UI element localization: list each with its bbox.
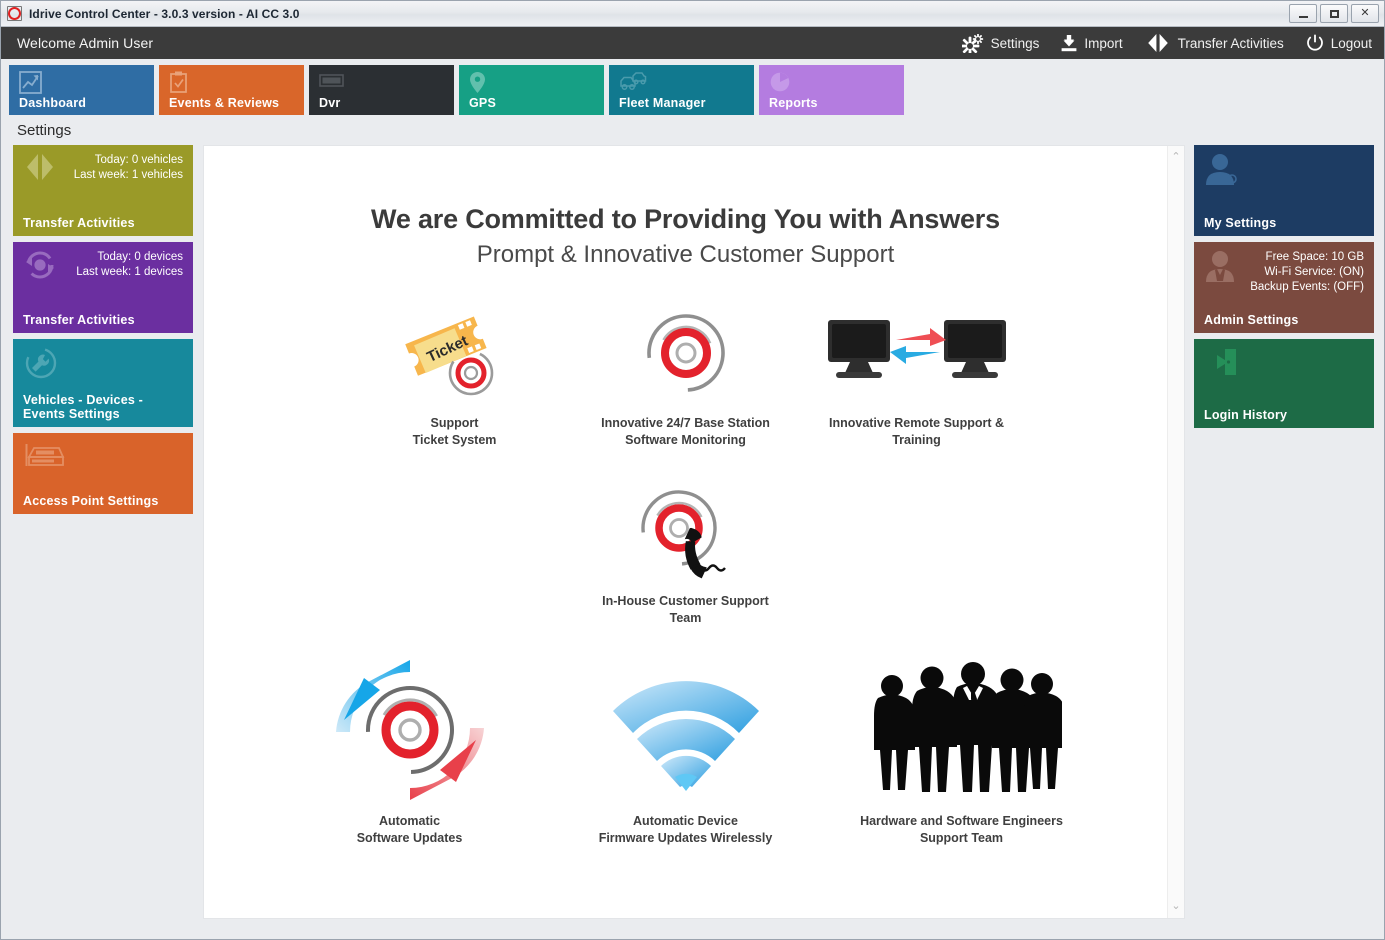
logout-button[interactable]: Logout — [1306, 34, 1372, 52]
page-title: Settings — [1, 115, 1384, 145]
gears-icon — [962, 34, 984, 53]
tile-my-settings[interactable]: My Settings — [1194, 145, 1374, 236]
tile-stat-line: Today: 0 devices — [23, 250, 183, 265]
feature-caption-line1: Hardware and Software Engineers — [860, 813, 1063, 830]
welcome-label: Welcome Admin User — [17, 35, 153, 51]
chart-line-icon — [19, 71, 42, 99]
remote-monitors-icon — [822, 299, 1012, 407]
tile-stats: Today: 0 vehicles Last week: 1 vehicles — [23, 153, 183, 183]
feature-remote-support-training: Innovative Remote Support & Training — [809, 299, 1024, 449]
main-panel: We are Committed to Providing You with A… — [203, 145, 1185, 919]
wifi-signal-icon — [601, 655, 771, 805]
scroll-up-arrow[interactable]: ⌃ — [1171, 152, 1180, 163]
left-sidebar: Today: 0 vehicles Last week: 1 vehicles … — [13, 145, 193, 919]
feature-caption-line1: Innovative 24/7 Base Station — [601, 415, 770, 432]
feature-caption-line2: Software Monitoring — [601, 432, 770, 449]
settings-label: Settings — [991, 36, 1040, 51]
tile-label: Access Point Settings — [23, 494, 159, 508]
logout-label: Logout — [1331, 36, 1372, 51]
tile-label: Transfer Activities — [23, 313, 135, 327]
nav-tab-fleet-manager-label: Fleet Manager — [619, 96, 706, 110]
tile-stat-line: Backup Events: (OFF) — [1204, 280, 1364, 295]
download-icon — [1061, 35, 1077, 52]
transfer-arrows-icon — [1145, 34, 1171, 52]
login-door-icon — [1204, 347, 1238, 382]
tile-stat-line: Today: 0 vehicles — [23, 153, 183, 168]
feature-caption-line2: Firmware Updates Wirelessly — [599, 830, 773, 847]
feature-engineers-support-team: Hardware and Software Engineers Support … — [832, 655, 1092, 847]
target-ring-icon — [7, 6, 22, 21]
tile-access-point-settings[interactable]: Access Point Settings — [13, 433, 193, 514]
window-title: Idrive Control Center - 3.0.3 version - … — [29, 7, 300, 21]
status-bar — [1, 931, 1384, 939]
tile-label: Login History — [1204, 408, 1287, 422]
wrench-icon — [23, 347, 59, 384]
feature-grid: Ticket — [204, 269, 1167, 875]
tile-transfer-activities-devices[interactable]: Today: 0 devices Last week: 1 devices Tr… — [13, 242, 193, 333]
feature-caption-line2: Team — [602, 610, 769, 627]
feature-caption: Hardware and Software Engineers Support … — [860, 813, 1063, 847]
feature-caption: Innovative 24/7 Base Station Software Mo… — [601, 415, 770, 449]
tile-vehicles-devices-events-settings[interactable]: Vehicles - Devices - Events Settings — [13, 339, 193, 427]
application-window: Idrive Control Center - 3.0.3 version - … — [0, 0, 1385, 940]
team-silhouette-icon — [862, 655, 1062, 805]
tile-label: My Settings — [1204, 216, 1276, 230]
vehicles-icon — [619, 71, 647, 96]
base-station-target-icon — [636, 299, 736, 407]
nav-tab-fleet-manager[interactable]: Fleet Manager — [609, 65, 754, 115]
user-settings-icon — [1204, 153, 1238, 190]
tile-admin-settings[interactable]: Free Space: 10 GB Wi-Fi Service: (ON) Ba… — [1194, 242, 1374, 333]
hero-section: We are Committed to Providing You with A… — [204, 146, 1167, 269]
tile-stat-line: Last week: 1 vehicles — [23, 168, 183, 183]
feature-device-firmware-updates: Automatic Device Firmware Updates Wirele… — [556, 655, 816, 847]
feature-caption-line1: Automatic Device — [599, 813, 773, 830]
nav-tab-events-reviews[interactable]: Events & Reviews — [159, 65, 304, 115]
feature-caption-line1: Support — [413, 415, 497, 432]
feature-support-ticket-system: Ticket — [347, 299, 562, 449]
main-navigation: Dashboard Events & Reviews Dvr — [1, 59, 1384, 115]
nav-tab-gps-label: GPS — [469, 96, 496, 110]
feature-caption-line2: Ticket System — [413, 432, 497, 449]
settings-button[interactable]: Settings — [962, 34, 1040, 53]
feature-caption: Automatic Software Updates — [357, 813, 463, 847]
tile-login-history[interactable]: Login History — [1194, 339, 1374, 428]
feature-caption-line2: Training — [829, 432, 1004, 449]
feature-caption-line1: Innovative Remote Support & — [829, 415, 1004, 432]
feature-caption-line2: Software Updates — [357, 830, 463, 847]
import-button[interactable]: Import — [1061, 35, 1122, 52]
tile-stat-line: Free Space: 10 GB — [1204, 250, 1364, 265]
scroll-down-arrow[interactable]: ⌄ — [1171, 901, 1180, 912]
tile-stats: Free Space: 10 GB Wi-Fi Service: (ON) Ba… — [1204, 250, 1364, 295]
tile-stat-line: Wi-Fi Service: (ON) — [1204, 265, 1364, 280]
close-button[interactable]: ✕ — [1351, 4, 1379, 23]
nav-tab-gps[interactable]: GPS — [459, 65, 604, 115]
feature-automatic-software-updates: Automatic Software Updates — [280, 655, 540, 847]
power-icon — [1306, 34, 1324, 52]
top-actions: Settings Import — [962, 34, 1372, 53]
feature-in-house-support-team: In-House Customer Support Team — [578, 477, 793, 627]
target-phone-icon — [631, 477, 741, 585]
main-scroll-region: We are Committed to Providing You with A… — [204, 146, 1167, 918]
feature-base-station-monitoring: Innovative 24/7 Base Station Software Mo… — [578, 299, 793, 449]
tile-stat-line: Last week: 1 devices — [23, 265, 183, 280]
nav-tab-dvr[interactable]: Dvr — [309, 65, 454, 115]
tile-label: Admin Settings — [1204, 313, 1298, 327]
tile-transfer-activities-vehicles[interactable]: Today: 0 vehicles Last week: 1 vehicles … — [13, 145, 193, 236]
feature-caption-line1: In-House Customer Support — [602, 593, 769, 610]
tile-stats: Today: 0 devices Last week: 1 devices — [23, 250, 183, 280]
clipboard-check-icon — [169, 71, 189, 99]
feature-caption: Innovative Remote Support & Training — [829, 415, 1004, 449]
feature-caption-line1: Automatic — [357, 813, 463, 830]
feature-caption: In-House Customer Support Team — [602, 593, 769, 627]
nav-tab-reports-label: Reports — [769, 96, 818, 110]
vertical-scrollbar[interactable]: ⌃ ⌄ — [1167, 146, 1184, 918]
hero-subheading: Prompt & Innovative Customer Support — [204, 241, 1167, 269]
router-icon — [23, 441, 65, 476]
transfer-activities-label: Transfer Activities — [1178, 36, 1284, 51]
tile-label: Transfer Activities — [23, 216, 135, 230]
maximize-button[interactable] — [1320, 4, 1348, 23]
refresh-target-icon — [320, 655, 500, 805]
nav-tab-events-reviews-label: Events & Reviews — [169, 96, 279, 110]
pie-chart-icon — [769, 71, 791, 98]
nav-tab-reports[interactable]: Reports — [759, 65, 904, 115]
transfer-activities-button[interactable]: Transfer Activities — [1145, 34, 1284, 52]
support-ticket-icon: Ticket — [400, 299, 510, 407]
nav-tab-dashboard[interactable]: Dashboard — [9, 65, 154, 115]
tile-label: Vehicles - Devices - Events Settings — [23, 393, 183, 421]
minimize-button[interactable] — [1289, 4, 1317, 23]
feature-caption: Automatic Device Firmware Updates Wirele… — [599, 813, 773, 847]
title-bar: Idrive Control Center - 3.0.3 version - … — [1, 1, 1384, 27]
content-area: Today: 0 vehicles Last week: 1 vehicles … — [1, 145, 1384, 931]
dvr-icon — [319, 71, 344, 97]
nav-tab-dvr-label: Dvr — [319, 96, 340, 110]
import-label: Import — [1084, 36, 1122, 51]
right-sidebar: My Settings Free Space: 10 GB Wi-Fi Serv… — [1194, 145, 1374, 919]
feature-caption: Support Ticket System — [413, 415, 497, 449]
nav-tab-dashboard-label: Dashboard — [19, 96, 86, 110]
hero-heading: We are Committed to Providing You with A… — [204, 204, 1167, 235]
feature-caption-line2: Support Team — [860, 830, 1063, 847]
top-toolbar: Welcome Admin User — [1, 27, 1384, 59]
window-controls: ✕ — [1289, 4, 1382, 23]
